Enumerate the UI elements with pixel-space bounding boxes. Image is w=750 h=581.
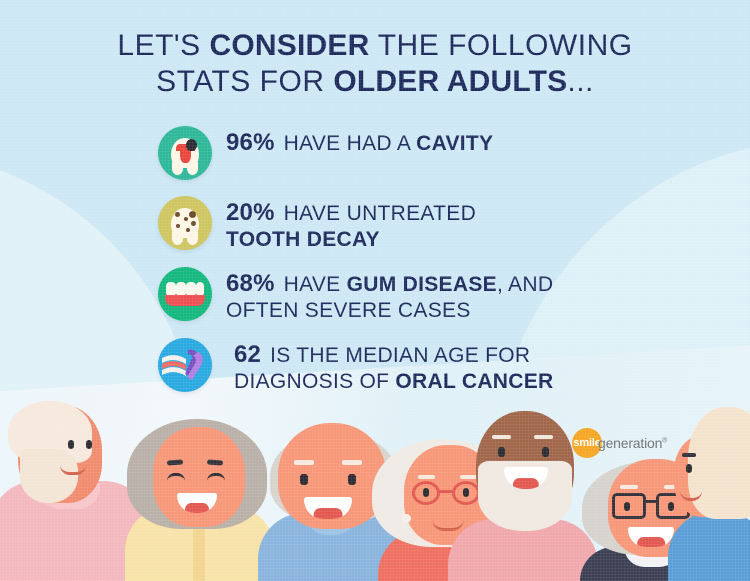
person-eyebrow [492, 435, 511, 439]
headline-emphasis-older-adults: OLDER ADULTS [333, 65, 567, 98]
person-eye [423, 488, 429, 497]
person-eyebrow [342, 460, 362, 465]
person-eye-closed [167, 473, 185, 481]
stat-copy-c: , AND [497, 273, 553, 296]
stat-number: 68% [226, 270, 275, 297]
person-eyebrow [56, 427, 71, 431]
person-eye [624, 502, 630, 511]
earring [402, 514, 411, 523]
stat-copy-emphasis: GUM DISEASE [347, 273, 497, 296]
stat-copy-a: HAVE [284, 273, 347, 296]
smile-generation-logo[interactable]: smile generation® [572, 428, 667, 458]
glasses-bridge [644, 500, 658, 503]
decay-spot [186, 228, 190, 232]
gums-shape [165, 282, 205, 306]
stat-number: 20% [226, 199, 275, 226]
stat-row-tooth-decay: 20%HAVE UNTREATED TOOTH DECAY [158, 194, 718, 253]
infographic-poster: LET'S CONSIDER THE FOLLOWING STATS FOR O… [0, 0, 750, 581]
stat-number: 62 [234, 341, 261, 368]
stats-list: 96%HAVE HAD A CAVITY 20%HAVE UNTREATED T… [158, 124, 718, 407]
stat-text-cavity: 96%HAVE HAD A CAVITY [226, 124, 493, 157]
person-body [668, 511, 750, 581]
headline-text-a: LET'S [117, 29, 209, 62]
person-hair [688, 407, 750, 519]
person-eyebrow [78, 427, 90, 431]
headline-emphasis-consider: CONSIDER [209, 29, 369, 62]
headline-line-2: STATS FOR OLDER ADULTS... [0, 64, 750, 100]
person-eyebrow [534, 435, 553, 439]
person-eye [300, 474, 308, 485]
stat-copy-emphasis: CAVITY [416, 132, 493, 155]
decay-spot [184, 217, 188, 221]
stat-line-1: 68%HAVE GUM DISEASE, AND [226, 271, 553, 298]
person-eyebrow [682, 453, 696, 457]
stat-row-cavity: 96%HAVE HAD A CAVITY [158, 124, 718, 182]
stat-copy-a: IS THE MEDIAN AGE FOR [270, 344, 530, 367]
stat-row-gum-disease: 68%HAVE GUM DISEASE, AND OFTEN SEVERE CA… [158, 265, 718, 324]
person-eyebrow [418, 475, 435, 479]
decay-spot [189, 211, 196, 218]
cavity-dark-spot [186, 139, 197, 151]
decay-spot [176, 224, 180, 228]
stat-copy-a: HAVE UNTREATED [284, 202, 476, 225]
stat-copy-a: HAVE HAD A [284, 132, 416, 155]
decay-spot [175, 212, 180, 217]
tooth-shape [171, 138, 199, 168]
page-title: LET'S CONSIDER THE FOLLOWING STATS FOR O… [0, 28, 750, 100]
tongue [637, 537, 665, 547]
stat-line-1: 20%HAVE UNTREATED [226, 200, 476, 227]
stat-text-gum-disease: 68%HAVE GUM DISEASE, AND OFTEN SEVERE CA… [226, 265, 553, 324]
stat-text-tooth-decay: 20%HAVE UNTREATED TOOTH DECAY [226, 194, 476, 253]
person-older-woman-blonde-blue-top [668, 399, 750, 581]
decayed-tooth-icon [158, 196, 212, 250]
stat-line-1: 96%HAVE HAD A CAVITY [226, 130, 493, 157]
person-eyebrow [294, 460, 314, 465]
person-eye [86, 440, 92, 449]
person-eyebrow [207, 459, 223, 465]
headline-text-d: STATS FOR [156, 65, 333, 98]
tongue [513, 478, 539, 489]
person-eye [348, 474, 356, 485]
tooth-cavity-icon [158, 126, 212, 180]
decay-spot [191, 221, 196, 226]
headline-line-1: LET'S CONSIDER THE FOLLOWING [0, 28, 750, 64]
person-beard [20, 449, 78, 503]
stat-number: 96% [226, 129, 275, 156]
stat-line-2: TOOTH DECAY [226, 227, 476, 253]
person-eye [68, 440, 74, 449]
stat-line-2: OFTEN SEVERE CASES [226, 298, 553, 324]
person-eye [686, 464, 692, 473]
person-eyebrow [620, 485, 638, 489]
front-tooth [176, 282, 186, 295]
person-eye-closed [207, 473, 225, 481]
gum-disease-icon [158, 267, 212, 321]
stat-copy-emphasis: TOOTH DECAY [226, 228, 380, 251]
tooth-shape [171, 208, 199, 238]
headline-text-c: THE FOLLOWING [369, 29, 632, 62]
older-adults-illustration [0, 371, 750, 581]
person-eye [498, 447, 505, 457]
person-eye [542, 447, 549, 457]
front-tooth [196, 282, 204, 295]
logo-word-text: generation [598, 435, 662, 451]
front-tooth [166, 282, 176, 295]
tongue [185, 503, 209, 513]
logo-word-generation: generation® [598, 435, 667, 451]
logo-trademark: ® [662, 437, 667, 444]
front-tooth [186, 282, 196, 295]
headline-ellipsis: ... [567, 65, 594, 98]
tongue [314, 508, 343, 519]
stat-line-1: 62IS THE MEDIAN AGE FOR [234, 342, 554, 369]
